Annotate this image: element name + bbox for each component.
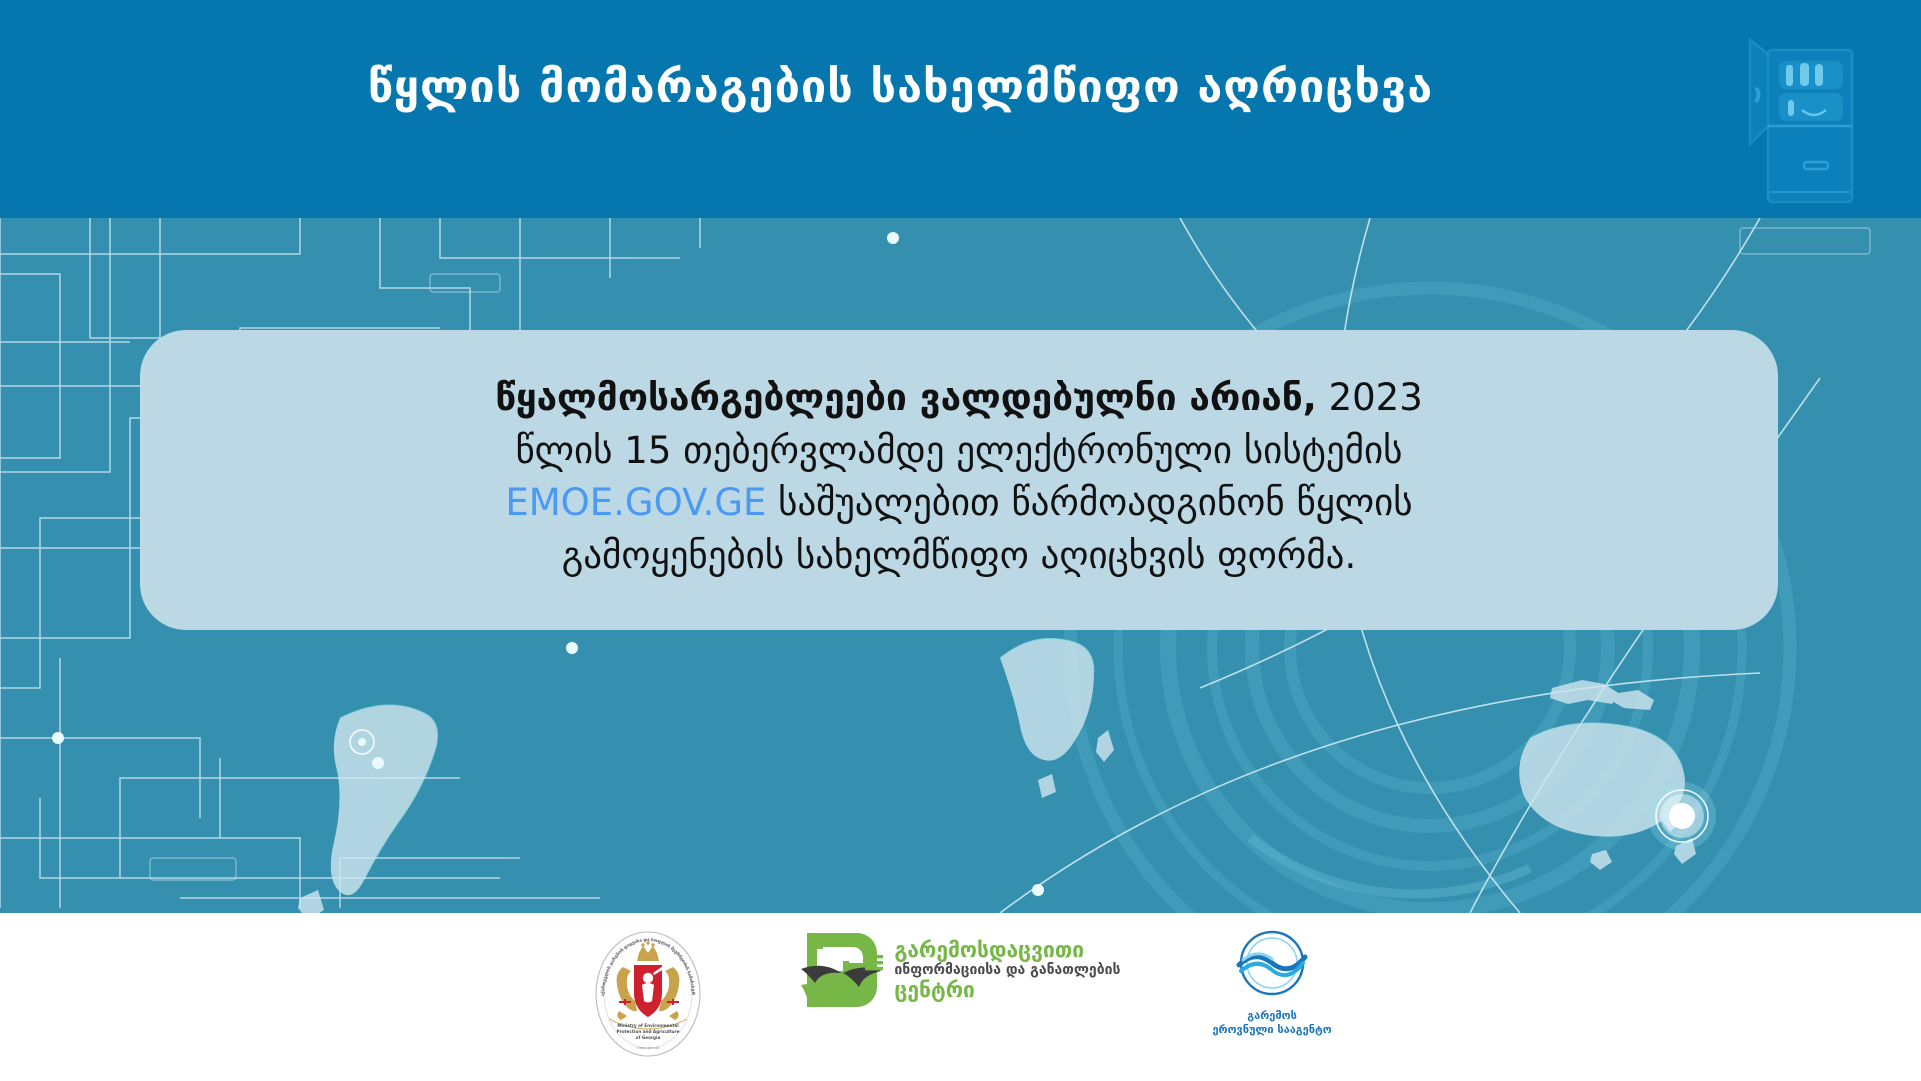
seal-en-line-2: Protection and Agriculture (617, 1029, 680, 1034)
nea-line-2: ეროვნული სააგენტო (1212, 1023, 1331, 1037)
header-band: წყლის მომარაგების სახელმწიფო აღრიცხვა (0, 0, 1921, 218)
open-refrigerator-icon (1748, 22, 1866, 217)
emoe-gov-ge-link[interactable]: EMOE.GOV.GE (505, 481, 766, 524)
seal-en-line-1: Ministry of Environmental (618, 1023, 680, 1028)
page-title: წყლის მომარაგების სახელმწიფო აღრიცხვა (0, 60, 1921, 114)
poster-canvas: წყლის მომარაგების სახელმწიფო აღრიცხვა (0, 0, 1921, 1081)
eiec-line-2: ინფორმაციისა და განათლების (894, 963, 1120, 978)
eiec-book-leaf-icon (799, 927, 885, 1013)
announcement-line-1-bold: წყალმოსარგებლეები ვალდებულნი არიან, (495, 376, 1317, 419)
announcement-line-1: წყალმოსარგებლეები ვალდებულნი არიან, 2023 (190, 372, 1728, 425)
announcement-line-3-rest: საშუალებით წარმოადგინონ წყლის (766, 481, 1412, 524)
footer-band: საქართველოს გარემოს დაცვისა და სოფლის მე… (0, 913, 1921, 1081)
seal-en-line-3: of Georgia (636, 1035, 661, 1040)
logo-row: საქართველოს გარემოს დაცვისა და სოფლის მე… (0, 927, 1921, 1061)
background-band: წყალმოსარგებლეები ვალდებულნი არიან, 2023… (0, 218, 1921, 913)
nea-line-1: გარემოს (1212, 1009, 1331, 1023)
announcement-text: წყალმოსარგებლეები ვალდებულნი არიან, 2023… (190, 372, 1728, 582)
announcement-year: 2023 (1317, 376, 1423, 419)
eiec-wordmark: გარემოსდაცვითი ინფორმაციისა და განათლები… (894, 939, 1120, 1001)
eiec-logo: გარემოსდაცვითი ინფორმაციისა და განათლები… (799, 927, 1120, 1013)
nea-logo: გარემოს ეროვნული სააგენტო (1212, 927, 1331, 1037)
announcement-card: წყალმოსარგებლეები ვალდებულნი არიან, 2023… (140, 330, 1778, 630)
nea-water-circle-icon (1233, 927, 1311, 1005)
announcement-line-3: EMOE.GOV.GE საშუალებით წარმოადგინონ წყლი… (190, 477, 1728, 530)
glow-node (1648, 782, 1716, 850)
eiec-line-1: გარემოსდაცვითი (894, 939, 1120, 961)
announcement-line-4: გამოყენების სახელმწიფო აღიცხვის ფორმა. (190, 530, 1728, 583)
ministry-seal-logo: საქართველოს გარემოს დაცვისა და სოფლის მე… (589, 927, 707, 1061)
seal-site-text: mepa.gov.ge (637, 1046, 661, 1050)
announcement-line-2: წლის 15 თებერვლამდე ელექტრონული სისტემის (190, 425, 1728, 478)
georgia-ministry-seal-icon: საქართველოს გარემოს დაცვისა და სოფლის მე… (589, 927, 707, 1061)
eiec-line-3: ცენტრი (894, 979, 1120, 1001)
nea-wordmark: გარემოს ეროვნული სააგენტო (1212, 1009, 1331, 1037)
